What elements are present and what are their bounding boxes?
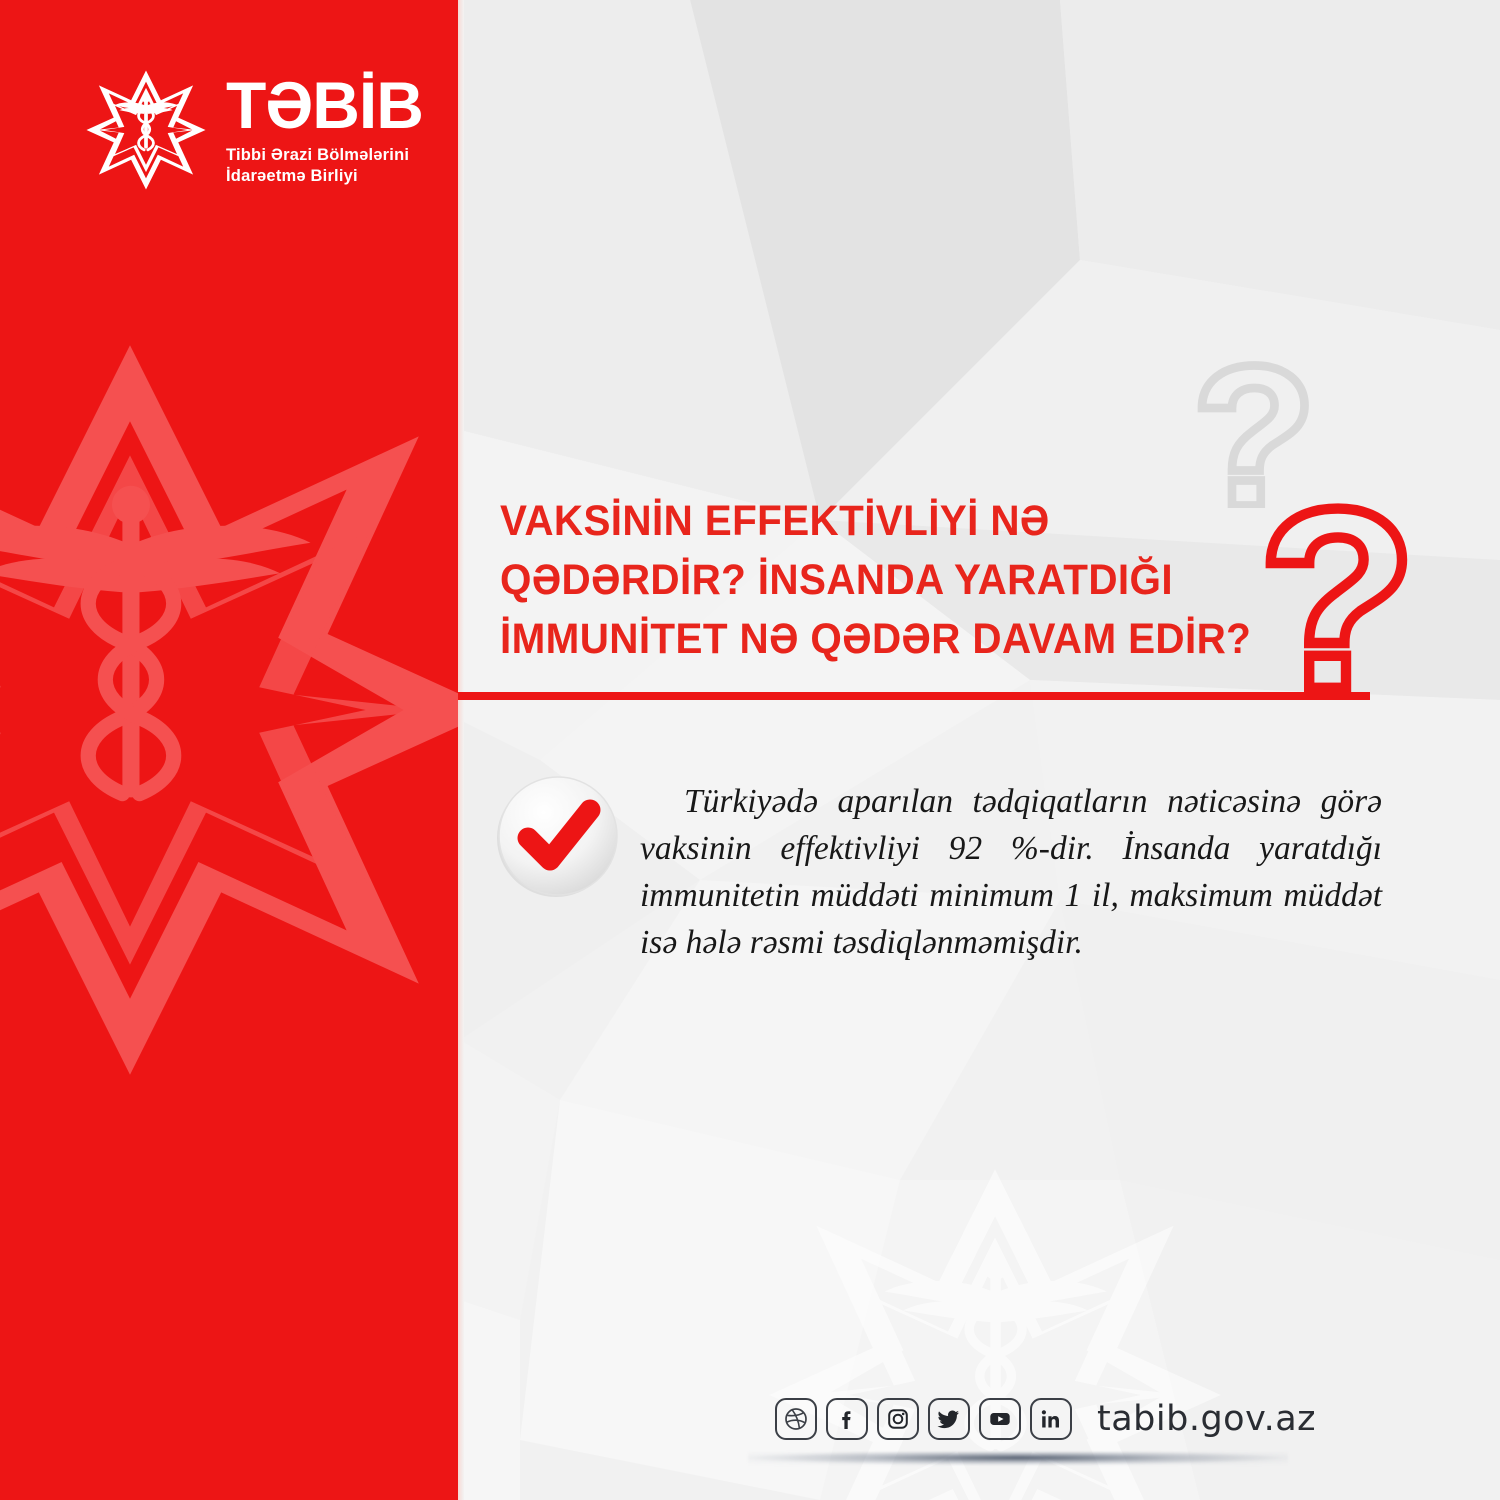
- star-caduceus-watermark-icon: [0, 330, 458, 1090]
- brand-tagline-line1: Tibbi Ərazi Bölmələrini: [226, 145, 423, 167]
- tabib-logo: TƏBİB Tibbi Ərazi Bölmələrini İdarəetmə …: [84, 68, 423, 192]
- page-title: VAKSİNİN EFFEKTİVLİYİ NƏ QƏDƏRDİR? İNSAN…: [500, 492, 1214, 669]
- answer-text: Türkiyədə aparılan tədqiqatların nəticəs…: [640, 778, 1382, 966]
- heading-divider: [458, 692, 1370, 700]
- brand-tagline-line2: İdarəetmə Birliyi: [226, 166, 423, 188]
- website-url[interactable]: tabib.gov.az: [1097, 1399, 1316, 1439]
- youtube-icon[interactable]: [979, 1398, 1021, 1440]
- question-mark-back-icon: [1192, 358, 1317, 508]
- poster-canvas: TƏBİB Tibbi Ərazi Bölmələrini İdarəetmə …: [0, 0, 1500, 1500]
- twitter-icon[interactable]: [928, 1398, 970, 1440]
- page-title-line1: VAKSİNİN EFFEKTİVLİYİ NƏ: [500, 492, 1214, 551]
- panel-seam: [458, 0, 464, 1500]
- footer-shadow: [748, 1452, 1288, 1465]
- linkedin-icon[interactable]: [1030, 1398, 1072, 1440]
- page-title-line2: QƏDƏRDİR? İNSANDA YARATDIĞI: [500, 551, 1214, 610]
- brand-wordmark: TƏBİB: [226, 74, 423, 137]
- dribbble-icon[interactable]: [775, 1398, 817, 1440]
- brand-tagline: Tibbi Ərazi Bölmələrini İdarəetmə Birliy…: [226, 145, 423, 189]
- page-title-line3: İMMUNİTET NƏ QƏDƏR DAVAM EDİR?: [500, 610, 1214, 669]
- facebook-icon[interactable]: [826, 1398, 868, 1440]
- footer-bar: tabib.gov.az: [775, 1398, 1316, 1440]
- bottom-star-watermark-icon: [735, 1160, 1255, 1500]
- answer-text-content: Türkiyədə aparılan tədqiqatların nəticəs…: [640, 783, 1382, 961]
- tabib-star-caduceus-logo-icon: [84, 68, 208, 192]
- logo-text-block: TƏBİB Tibbi Ərazi Bölmələrini İdarəetmə …: [226, 68, 423, 188]
- check-circle-icon: [494, 774, 622, 902]
- question-mark-front-icon: [1258, 495, 1418, 695]
- left-red-panel: [0, 0, 458, 1500]
- instagram-icon[interactable]: [877, 1398, 919, 1440]
